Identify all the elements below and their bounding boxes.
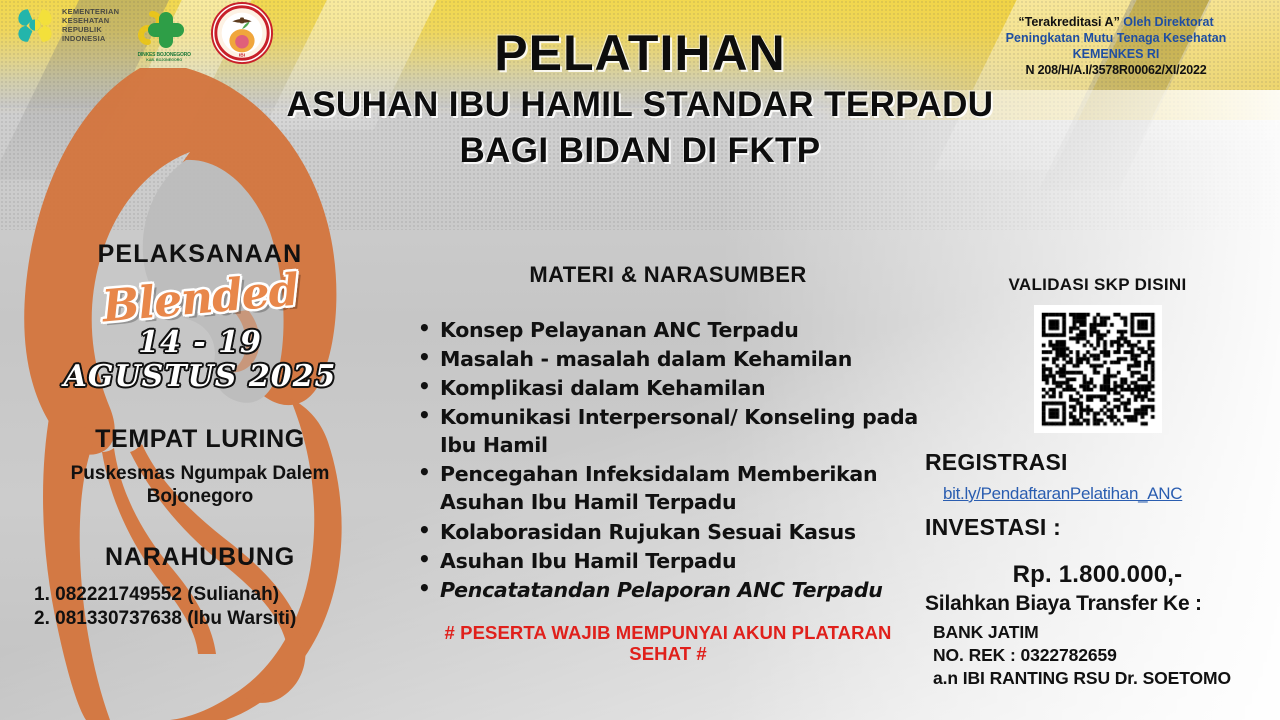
bank-account-holder: a.n IBI RANTING RSU Dr. SOETOMO — [933, 667, 1270, 690]
page-subtitle-line1: ASUHAN IBU HAMIL STANDAR TERPADU — [230, 85, 1050, 124]
price-value: Rp. 1.800.000,- — [925, 561, 1270, 589]
contact-item[interactable]: 1. 082221749552 (Sulianah) — [34, 583, 400, 607]
kemenkes-logo: KEMENTERIAN KESEHATAN REPUBLIK INDONESIA — [14, 4, 119, 46]
investment-heading: INVESTASI : — [925, 514, 1270, 541]
venue-heading: TEMPAT LURING — [0, 425, 400, 454]
qr-code-skp[interactable] — [1034, 305, 1162, 433]
list-item: Pencegahan Infeksidalam Memberikan Asuha… — [412, 460, 924, 516]
qr-heading: VALIDASI SKP DISINI — [925, 275, 1270, 295]
list-item: Pencatatandan Pelaporan ANC Terpadu — [412, 576, 924, 604]
venue-line-1: Puskesmas Ngumpak Dalem — [0, 463, 400, 486]
accreditation-number: N 208/H/A.I/3578R00062/XI/2022 — [966, 62, 1266, 78]
contact-item[interactable]: 2. 081330737638 (Ibu Warsiti) — [34, 607, 400, 631]
list-item: Masalah - masalah dalam Kehamilan — [412, 345, 924, 373]
blended-label: Blended — [100, 265, 300, 333]
middle-column: MATERI & NARASUMBER Konsep Pelayanan ANC… — [412, 262, 924, 665]
bank-account-number: NO. REK : 0322782659 — [933, 644, 1270, 667]
date-line-1: 14 - 19 — [0, 326, 400, 360]
date-line-2: AGUSTUS 2025 — [0, 360, 400, 394]
right-column: VALIDASI SKP DISINI REGISTRASI bit.ly/Pe… — [925, 275, 1270, 689]
accreditation-line-3: KEMENKES RI — [966, 46, 1266, 62]
accreditation-quoted: “Terakreditasi A” — [1018, 15, 1119, 29]
materi-list: Konsep Pelayanan ANC Terpadu Masalah - m… — [412, 316, 924, 604]
bank-name: BANK JATIM — [933, 621, 1270, 644]
poster-canvas: KEMENTERIAN KESEHATAN REPUBLIK INDONESIA… — [0, 0, 1280, 720]
qr-wrapper — [925, 305, 1270, 433]
transfer-note: Silahkan Biaya Transfer Ke : — [925, 592, 1270, 616]
accreditation-line-2: Peningkatan Mutu Tenaga Kesehatan — [966, 30, 1266, 46]
venue-line-2: Bojonegoro — [0, 486, 400, 509]
page-subtitle-line2: BAGI BIDAN DI FKTP — [230, 131, 1050, 170]
registration-link[interactable]: bit.ly/PendaftaranPelatihan_ANC — [925, 484, 1270, 504]
venue-details: Puskesmas Ngumpak Dalem Bojonegoro — [0, 463, 400, 509]
page-title: PELATIHAN — [230, 28, 1050, 78]
accreditation-line-1: “Terakreditasi A” Oleh Direktorat — [966, 14, 1266, 30]
kemenkes-emblem-icon — [14, 4, 56, 46]
dinkes-bojonegoro-logo: DINKES BOJONEGORO KAB. BOJONEGORO — [133, 4, 195, 66]
list-item: Komunikasi Interpersonal/ Konseling pada… — [412, 403, 924, 459]
accreditation-rest: Oleh Direktorat — [1120, 15, 1214, 29]
list-item: Komplikasi dalam Kehamilan — [412, 374, 924, 402]
ibi-logo: IBI — [211, 2, 273, 64]
accreditation-block: “Terakreditasi A” Oleh Direktorat Pening… — [966, 14, 1266, 78]
materi-heading: MATERI & NARASUMBER — [412, 262, 924, 288]
list-item: Konsep Pelayanan ANC Terpadu — [412, 316, 924, 344]
kemenkes-logo-text: KEMENTERIAN KESEHATAN REPUBLIK INDONESIA — [62, 7, 119, 44]
svg-text:IBI: IBI — [239, 52, 246, 58]
list-item: Kolaborasidan Rujukan Sesuai Kasus — [412, 518, 924, 546]
registration-heading: REGISTRASI — [925, 449, 1270, 476]
left-column: PELAKSANAAN Blended 14 - 19 AGUSTUS 2025… — [0, 240, 400, 631]
dinkes-cross-icon — [136, 4, 192, 52]
contact-heading: NARAHUBUNG — [0, 543, 400, 572]
title-block: PELATIHAN ASUHAN IBU HAMIL STANDAR TERPA… — [230, 28, 1050, 170]
contact-list: 1. 082221749552 (Sulianah) 2. 0813307376… — [0, 583, 400, 632]
warning-note: # PESERTA WAJIB MEMPUNYAI AKUN PLATARAN … — [412, 622, 924, 665]
bank-details: BANK JATIM NO. REK : 0322782659 a.n IBI … — [925, 621, 1270, 689]
pelaksanaan-heading: PELAKSANAAN — [0, 240, 400, 269]
list-item: Asuhan Ibu Hamil Terpadu — [412, 547, 924, 575]
logo-row: KEMENTERIAN KESEHATAN REPUBLIK INDONESIA… — [14, 4, 273, 74]
dinkes-caption2: KAB. BOJONEGORO — [146, 58, 182, 62]
